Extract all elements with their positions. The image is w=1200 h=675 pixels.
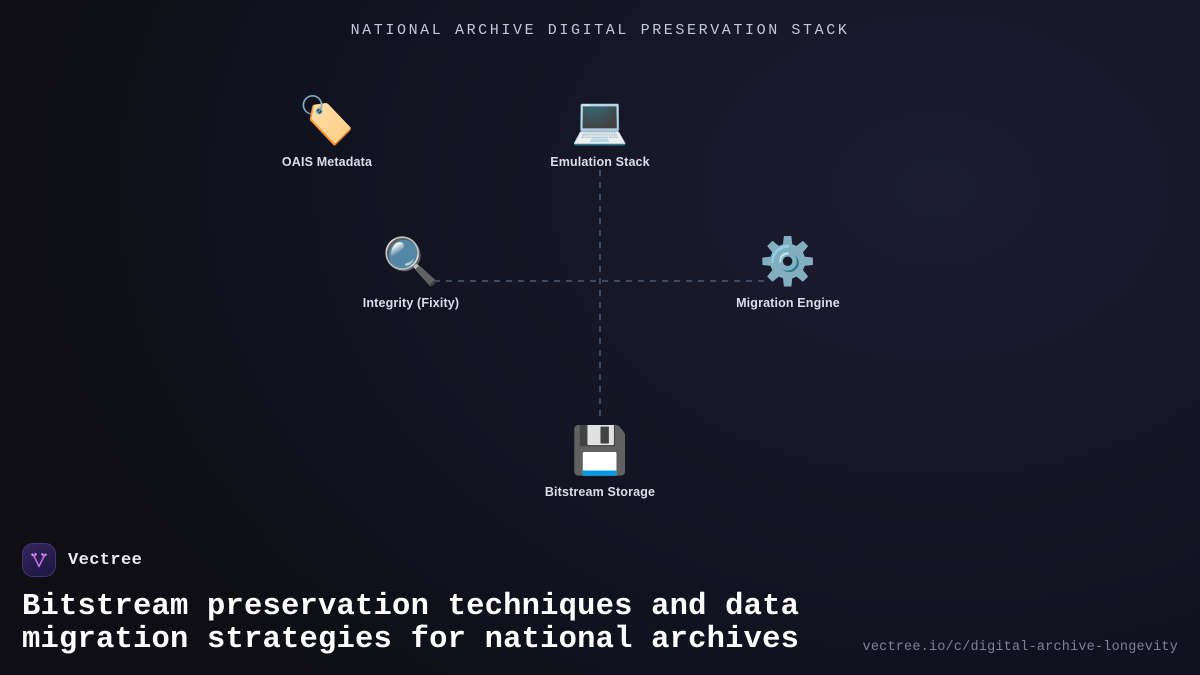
brand-name: Vectree (68, 551, 142, 570)
label-tag-icon: 🏷️ (232, 93, 422, 147)
node-integrity-fixity[interactable]: 🔍 Integrity (Fixity) (316, 234, 506, 310)
source-url: vectree.io/c/digital-archive-longevity (863, 640, 1178, 655)
diagram-canvas: NATIONAL ARCHIVE DIGITAL PRESERVATION ST… (0, 0, 1200, 675)
vectree-logo (22, 543, 56, 577)
node-bitstream-storage[interactable]: 💾 Bitstream Storage (505, 423, 695, 499)
headline: Bitstream preservation techniques and da… (22, 591, 882, 657)
magnifying-glass-icon: 🔍 (316, 234, 506, 288)
gear-icon: ⚙️ (693, 234, 883, 288)
brand-row: Vectree (22, 543, 1178, 577)
node-oais-metadata[interactable]: 🏷️ OAIS Metadata (232, 93, 422, 169)
node-label-migration-engine: Migration Engine (693, 296, 883, 310)
node-migration-engine[interactable]: ⚙️ Migration Engine (693, 234, 883, 310)
node-label-oais-metadata: OAIS Metadata (232, 155, 422, 169)
node-label-bitstream-storage: Bitstream Storage (505, 485, 695, 499)
node-label-integrity-fixity: Integrity (Fixity) (316, 296, 506, 310)
laptop-icon: 💻 (505, 93, 695, 147)
node-label-emulation-stack: Emulation Stack (505, 155, 695, 169)
floppy-disk-icon: 💾 (505, 423, 695, 477)
footer: Vectree Bitstream preservation technique… (22, 543, 1178, 657)
diagram-title: NATIONAL ARCHIVE DIGITAL PRESERVATION ST… (0, 22, 1200, 39)
node-emulation-stack[interactable]: 💻 Emulation Stack (505, 93, 695, 169)
